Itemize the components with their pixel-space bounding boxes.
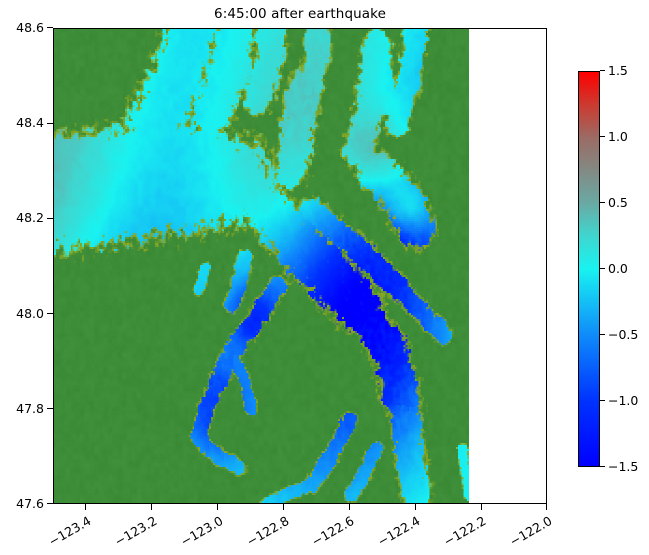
colorbar-tick-mark	[600, 466, 605, 467]
page-title: 6:45:00 after earthquake	[53, 6, 547, 22]
colorbar-tick-mark	[600, 268, 605, 269]
colorbar-tick-mark	[600, 400, 605, 401]
y-tick-mark	[47, 408, 53, 409]
x-tick-mark	[481, 504, 482, 510]
colorbar-tick-mark	[600, 334, 605, 335]
y-tick-label: 48.0	[16, 306, 44, 321]
x-tick-label: −123.4	[37, 513, 93, 554]
y-tick-label: 48.6	[16, 20, 44, 35]
colorbar-tick-label: −0.5	[608, 327, 638, 342]
colorbar-tick-label: −1.5	[608, 459, 638, 474]
y-tick-label: 48.2	[16, 210, 44, 225]
x-tick-label: −122.8	[235, 513, 291, 554]
y-tick-label: 47.6	[16, 496, 44, 511]
x-tick-label: −122.0	[499, 513, 555, 554]
colorbar-gradient	[579, 72, 599, 466]
y-tick-mark	[47, 27, 53, 28]
tsunami-surface-heatmap	[54, 29, 469, 504]
colorbar-tick-label: 1.0	[608, 129, 628, 144]
colorbar-tick-label: 1.5	[608, 63, 628, 78]
x-tick-label: −122.6	[301, 513, 357, 554]
y-tick-mark	[47, 218, 53, 219]
colorbar-tick-mark	[600, 202, 605, 203]
x-tick-mark	[217, 504, 218, 510]
y-tick-mark	[47, 503, 53, 504]
x-tick-label: −123.0	[169, 513, 225, 554]
x-tick-label: −123.2	[103, 513, 159, 554]
colorbar-tick-mark	[600, 70, 605, 71]
map-axes[interactable]	[53, 28, 547, 504]
y-tick-label: 48.4	[16, 115, 44, 130]
x-tick-mark	[349, 504, 350, 510]
x-tick-mark	[415, 504, 416, 510]
x-tick-label: −122.4	[367, 513, 423, 554]
y-tick-mark	[47, 123, 53, 124]
x-tick-mark	[546, 504, 547, 510]
colorbar-tick-label: 0.5	[608, 195, 628, 210]
x-tick-mark	[283, 504, 284, 510]
y-tick-mark	[47, 313, 53, 314]
x-tick-mark	[85, 504, 86, 510]
colorbar-tick-mark	[600, 136, 605, 137]
x-tick-label: −122.2	[433, 513, 489, 554]
figure-canvas: 6:45:00 after earthquake 47.647.848.048.…	[0, 0, 649, 555]
colorbar-tick-label: −1.0	[608, 393, 638, 408]
y-tick-label: 47.8	[16, 401, 44, 416]
colorbar[interactable]	[578, 71, 600, 467]
x-tick-mark	[151, 504, 152, 510]
colorbar-tick-label: 0.0	[608, 261, 628, 276]
